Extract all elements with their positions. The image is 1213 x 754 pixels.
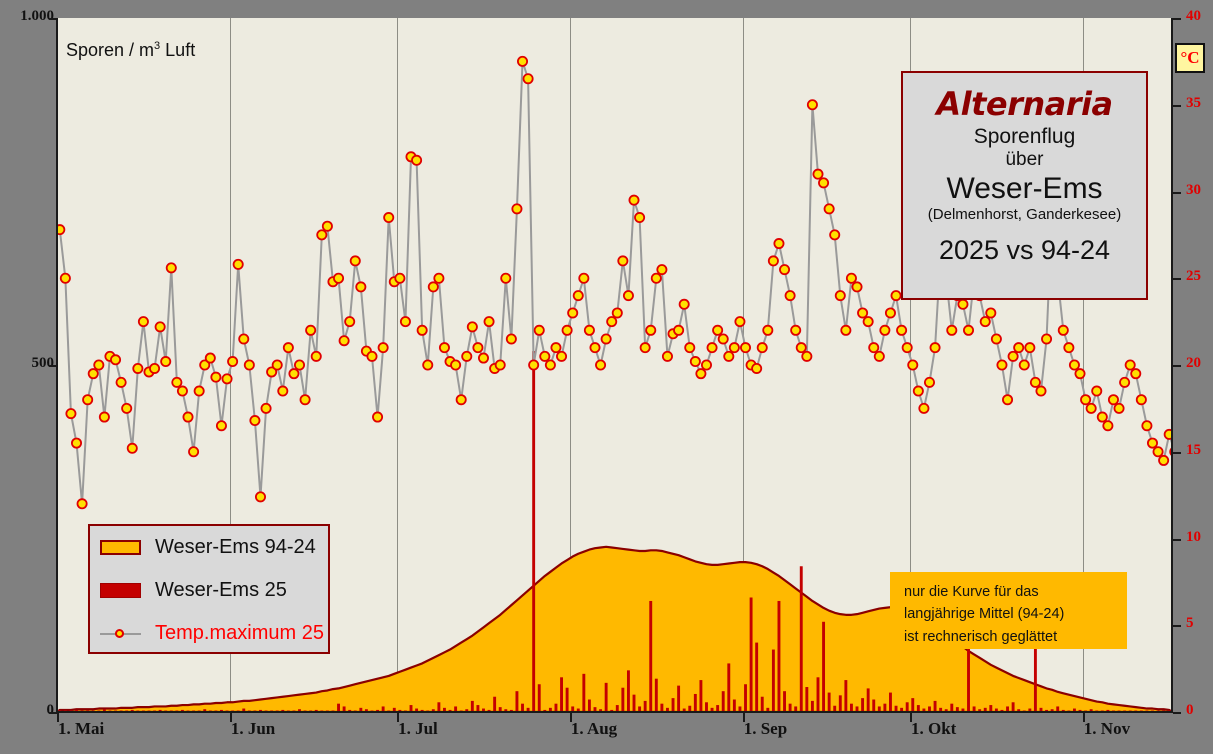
temperature-marker — [1142, 421, 1151, 430]
temperature-marker — [590, 343, 599, 352]
temperature-marker — [719, 334, 728, 343]
temperature-marker — [351, 256, 360, 265]
bar — [889, 693, 892, 712]
temperature-marker — [473, 343, 482, 352]
temperature-marker — [479, 353, 488, 362]
temperature-marker — [958, 300, 967, 309]
temperature-marker — [278, 386, 287, 395]
temperature-marker — [964, 326, 973, 335]
temperature-marker — [891, 291, 900, 300]
bar — [493, 697, 496, 712]
temperature-marker — [1087, 404, 1096, 413]
bar — [867, 688, 870, 712]
temperature-marker — [752, 364, 761, 373]
temperature-marker — [774, 239, 783, 248]
note-line-3: ist rechnerisch geglättet — [904, 626, 1127, 648]
right-axis-tick-label: 40 — [1186, 8, 1201, 25]
temperature-marker — [1109, 395, 1118, 404]
temperature-marker — [462, 352, 471, 361]
temperature-marker — [830, 230, 839, 239]
temperature-marker — [841, 326, 850, 335]
temperature-marker — [217, 421, 226, 430]
temperature-marker — [563, 326, 572, 335]
temperature-marker — [802, 352, 811, 361]
temperature-marker — [1120, 378, 1129, 387]
temperature-marker — [607, 317, 616, 326]
legend-item-2025[interactable]: Weser-Ems 25 — [100, 577, 287, 603]
temperature-marker — [780, 265, 789, 274]
temperature-marker — [496, 360, 505, 369]
temperature-marker — [189, 447, 198, 456]
title-taxon: Alternaria — [903, 85, 1146, 123]
temperature-marker — [613, 308, 622, 317]
left-axis-tick-label: 1.000 — [20, 8, 54, 25]
temperature-marker — [875, 352, 884, 361]
temperature-marker — [919, 404, 928, 413]
right-axis-tick-label: 10 — [1186, 529, 1201, 546]
temperature-marker — [724, 352, 733, 361]
note-box: nur die Kurve für das langjährige Mittel… — [890, 572, 1127, 649]
bar — [755, 643, 758, 712]
temperature-marker — [540, 352, 549, 361]
temperature-marker — [228, 357, 237, 366]
temperature-marker — [930, 343, 939, 352]
bar — [538, 684, 541, 712]
celsius-unit-badge: °C — [1175, 43, 1205, 73]
temperature-marker — [808, 100, 817, 109]
temperature-marker — [66, 409, 75, 418]
bar — [515, 691, 518, 712]
bar — [800, 566, 803, 712]
legend-item-mean[interactable]: Weser-Ems 94-24 — [100, 534, 316, 560]
temperature-marker — [947, 326, 956, 335]
right-axis-tick — [1173, 18, 1181, 20]
bar — [817, 677, 820, 712]
temperature-marker — [306, 326, 315, 335]
temperature-marker — [222, 374, 231, 383]
temperature-marker — [440, 343, 449, 352]
right-axis-tick — [1173, 452, 1181, 454]
note-line-1: nur die Kurve für das — [904, 581, 1127, 603]
note-line-2: langjährige Mittel (94-24) — [904, 603, 1127, 625]
temperature-marker — [735, 317, 744, 326]
temperature-marker — [1064, 343, 1073, 352]
bar — [582, 674, 585, 712]
title-box: Alternaria Sporenflug über Weser-Ems (De… — [901, 71, 1148, 300]
temperature-marker — [273, 360, 282, 369]
x-axis-tick-label: 1. Okt — [911, 719, 956, 739]
bar — [822, 622, 825, 712]
temperature-marker — [858, 308, 867, 317]
temperature-marker — [523, 74, 532, 83]
temperature-marker — [167, 263, 176, 272]
bar — [744, 684, 747, 712]
bar — [699, 680, 702, 712]
temperature-marker — [234, 260, 243, 269]
temperature-marker — [122, 404, 131, 413]
temperature-marker — [624, 291, 633, 300]
temperature-marker — [183, 412, 192, 421]
temperature-marker — [981, 317, 990, 326]
temperature-marker — [1092, 386, 1101, 395]
x-axis-tick-label: 1. Mai — [58, 719, 104, 739]
temperature-marker — [1153, 447, 1162, 456]
temperature-marker — [289, 369, 298, 378]
left-axis-tick — [49, 712, 57, 714]
bar — [566, 688, 569, 712]
temperature-marker — [317, 230, 326, 239]
temperature-marker — [685, 343, 694, 352]
temperature-marker — [1036, 386, 1045, 395]
right-axis-tick-label: 15 — [1186, 442, 1201, 459]
temperature-marker — [356, 282, 365, 291]
temperature-marker — [367, 352, 376, 361]
legend-item-temp[interactable]: Temp.maximum 25 — [100, 620, 324, 646]
temperature-marker — [819, 178, 828, 187]
temperature-marker — [635, 213, 644, 222]
temperature-marker — [618, 256, 627, 265]
temperature-marker — [763, 326, 772, 335]
temperature-marker — [72, 438, 81, 447]
title-subtitle-2: über — [903, 149, 1146, 171]
temperature-marker — [557, 352, 566, 361]
right-axis-tick — [1173, 365, 1181, 367]
temperature-marker — [730, 343, 739, 352]
temperature-marker — [596, 360, 605, 369]
temperature-marker — [111, 355, 120, 364]
temperature-marker — [379, 343, 388, 352]
temperature-marker — [94, 360, 103, 369]
bar — [844, 680, 847, 712]
bar — [772, 650, 775, 712]
legend-box: Weser-Ems 94-24 Weser-Ems 25 Temp.maximu… — [88, 524, 330, 654]
bottom-axis-line — [56, 711, 1173, 713]
bar — [839, 695, 842, 712]
temperature-marker — [77, 499, 86, 508]
right-axis-tick — [1173, 712, 1181, 714]
temperature-marker — [172, 378, 181, 387]
temperature-marker — [702, 360, 711, 369]
temperature-marker — [1009, 352, 1018, 361]
temperature-marker — [501, 274, 510, 283]
x-axis-tick-label: 1. Aug — [571, 719, 617, 739]
temperature-marker — [741, 343, 750, 352]
temperature-marker — [423, 360, 432, 369]
temperature-marker — [585, 326, 594, 335]
temperature-marker — [161, 357, 170, 366]
x-axis-tick-label: 1. Nov — [1084, 719, 1130, 739]
temperature-marker — [535, 326, 544, 335]
right-axis-tick — [1173, 625, 1181, 627]
line-marker-swatch-icon — [100, 626, 141, 641]
temperature-marker — [117, 378, 126, 387]
bar — [605, 683, 608, 712]
temperature-marker — [652, 274, 661, 283]
temperature-marker — [574, 291, 583, 300]
bar — [694, 694, 697, 712]
temperature-marker — [836, 291, 845, 300]
temperature-marker — [256, 492, 265, 501]
temperature-marker — [880, 326, 889, 335]
temperature-marker — [457, 395, 466, 404]
temperature-marker — [1059, 326, 1068, 335]
bar — [621, 688, 624, 712]
temperature-marker — [579, 274, 588, 283]
temperature-marker — [429, 282, 438, 291]
temperature-marker — [1031, 378, 1040, 387]
temperature-marker — [813, 170, 822, 179]
temperature-marker — [139, 317, 148, 326]
temperature-marker — [680, 300, 689, 309]
legend-label-2025: Weser-Ems 25 — [155, 579, 287, 602]
temperature-marker — [1003, 395, 1012, 404]
bar — [627, 670, 630, 712]
temperature-marker — [646, 326, 655, 335]
temperature-marker — [178, 386, 187, 395]
temperature-marker — [401, 317, 410, 326]
temperature-marker — [418, 326, 427, 335]
bar — [672, 698, 675, 712]
temperature-marker — [61, 274, 70, 283]
temperature-marker — [57, 225, 64, 234]
y-axis-caption-pre: Sporen / m — [66, 40, 154, 60]
temperature-marker — [852, 282, 861, 291]
legend-label-temp: Temp.maximum 25 — [155, 622, 324, 645]
temperature-marker — [903, 343, 912, 352]
temperature-marker — [1081, 395, 1090, 404]
temperature-marker — [529, 360, 538, 369]
temperature-marker — [345, 317, 354, 326]
y-axis-caption: Sporen / m3 Luft — [66, 40, 195, 61]
temperature-marker — [1103, 421, 1112, 430]
temperature-marker — [1014, 343, 1023, 352]
temperature-marker — [323, 222, 332, 231]
temperature-marker — [886, 308, 895, 317]
temperature-marker — [412, 156, 421, 165]
temperature-marker — [629, 196, 638, 205]
temperature-marker — [133, 364, 142, 373]
temperature-marker — [1159, 456, 1168, 465]
temperature-marker — [786, 291, 795, 300]
temperature-marker — [484, 317, 493, 326]
bar — [761, 697, 764, 712]
temperature-marker — [1042, 334, 1051, 343]
bar — [750, 597, 753, 712]
x-axis-tick-label: 1. Jun — [231, 719, 275, 739]
temperature-marker — [1148, 438, 1157, 447]
left-axis-tick-label: 500 — [32, 355, 55, 372]
right-axis-tick-label: 5 — [1186, 615, 1194, 632]
temperature-marker — [1126, 360, 1135, 369]
temperature-marker — [696, 369, 705, 378]
left-axis-tick-label: 0 — [47, 702, 55, 719]
temperature-marker — [250, 416, 259, 425]
title-years: 2025 vs 94-24 — [903, 235, 1146, 266]
x-axis-tick-label: 1. Jul — [398, 719, 438, 739]
temperature-marker — [451, 360, 460, 369]
bar — [560, 677, 563, 712]
temperature-marker — [373, 412, 382, 421]
bar — [655, 679, 658, 712]
temperature-marker — [156, 322, 165, 331]
right-axis-tick-label: 0 — [1186, 702, 1194, 719]
temperature-marker — [1098, 412, 1107, 421]
title-places: (Delmenhorst, Ganderkesee) — [903, 206, 1146, 223]
temperature-marker — [641, 343, 650, 352]
temperature-marker — [284, 343, 293, 352]
temperature-marker — [847, 274, 856, 283]
temperature-marker — [997, 360, 1006, 369]
temperature-marker — [206, 353, 215, 362]
bar — [532, 351, 535, 712]
temperature-marker — [340, 336, 349, 345]
temperature-marker — [791, 326, 800, 335]
temperature-marker — [568, 308, 577, 317]
temperature-marker — [691, 357, 700, 366]
temperature-marker — [992, 334, 1001, 343]
left-axis-tick — [49, 365, 57, 367]
temperature-marker — [674, 326, 683, 335]
y-axis-caption-post: Luft — [160, 40, 195, 60]
temperature-marker — [551, 343, 560, 352]
temperature-marker — [908, 360, 917, 369]
temperature-marker — [925, 378, 934, 387]
bar — [633, 695, 636, 712]
right-axis-tick — [1173, 539, 1181, 541]
temperature-marker — [914, 386, 923, 395]
right-axis-tick-label: 20 — [1186, 355, 1201, 372]
temperature-marker — [512, 204, 521, 213]
title-subtitle-1: Sporenflug — [903, 125, 1146, 149]
temperature-marker — [657, 265, 666, 274]
temperature-marker — [128, 444, 137, 453]
right-axis-tick — [1173, 105, 1181, 107]
temperature-marker — [518, 57, 527, 66]
temperature-marker — [334, 274, 343, 283]
right-axis-tick — [1173, 278, 1181, 280]
temperature-marker — [869, 343, 878, 352]
right-axis-tick-label: 35 — [1186, 95, 1201, 112]
temperature-marker — [758, 343, 767, 352]
bar — [828, 693, 831, 712]
temperature-marker — [769, 256, 778, 265]
bar — [778, 601, 781, 712]
left-axis-tick — [49, 18, 57, 20]
temperature-marker — [986, 308, 995, 317]
temperature-marker — [1020, 360, 1029, 369]
right-axis-tick-label: 30 — [1186, 182, 1201, 199]
temperature-marker — [261, 404, 270, 413]
temperature-marker — [89, 369, 98, 378]
temperature-marker — [312, 352, 321, 361]
temperature-marker — [1070, 360, 1079, 369]
temperature-marker — [384, 213, 393, 222]
temperature-marker — [211, 373, 220, 382]
temperature-marker — [1025, 343, 1034, 352]
right-axis-tick-label: 25 — [1186, 268, 1201, 285]
bar — [722, 691, 725, 712]
bar — [783, 691, 786, 712]
right-axis-tick — [1173, 192, 1181, 194]
temperature-marker — [1114, 404, 1123, 413]
bar — [727, 663, 730, 712]
temperature-marker — [602, 334, 611, 343]
temperature-marker — [245, 360, 254, 369]
temperature-marker — [195, 386, 204, 395]
temperature-marker — [468, 322, 477, 331]
title-region: Weser-Ems — [903, 173, 1146, 205]
legend-label-mean: Weser-Ems 94-24 — [155, 536, 316, 559]
temperature-marker — [295, 360, 304, 369]
bar — [911, 698, 914, 712]
temperature-marker — [825, 204, 834, 213]
temperature-marker — [239, 334, 248, 343]
temperature-marker — [546, 360, 555, 369]
temperature-marker — [395, 274, 404, 283]
temperature-marker — [864, 317, 873, 326]
bar-swatch-icon — [100, 583, 141, 598]
temperature-marker — [434, 274, 443, 283]
bar — [677, 686, 680, 712]
temperature-marker — [797, 343, 806, 352]
temperature-marker — [150, 364, 159, 373]
mean-area-swatch-icon — [100, 540, 141, 555]
temperature-marker — [300, 395, 309, 404]
temperature-marker — [1131, 369, 1140, 378]
bar — [805, 687, 808, 712]
chart-root: 1.0005000 4035302520151050 1. Mai1. Jun1… — [0, 0, 1213, 754]
x-axis-tick-label: 1. Sep — [744, 719, 787, 739]
temperature-marker — [100, 412, 109, 421]
temperature-marker — [1137, 395, 1146, 404]
temperature-marker — [713, 326, 722, 335]
temperature-marker — [1075, 369, 1084, 378]
temperature-marker — [897, 326, 906, 335]
temperature-marker — [507, 334, 516, 343]
bar — [861, 698, 864, 712]
bar — [649, 601, 652, 712]
temperature-marker — [663, 352, 672, 361]
temperature-marker — [707, 343, 716, 352]
temperature-marker — [83, 395, 92, 404]
